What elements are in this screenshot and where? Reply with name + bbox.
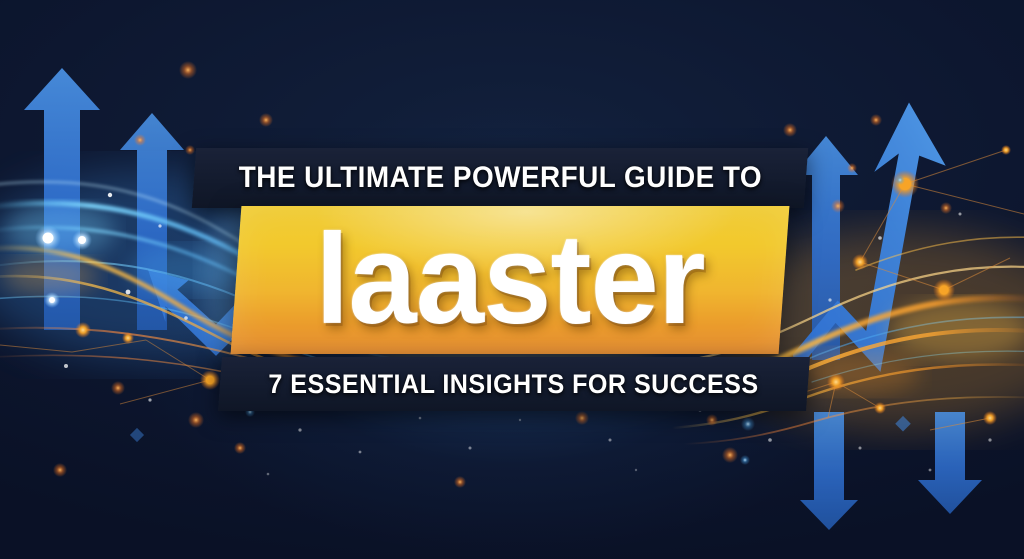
- banner-canvas: THE ULTIMATE POWERFUL GUIDE TO laaster 7…: [0, 0, 1024, 559]
- background-graphics: [0, 0, 1024, 559]
- arrow-down-bottom-center-icon: [800, 412, 858, 530]
